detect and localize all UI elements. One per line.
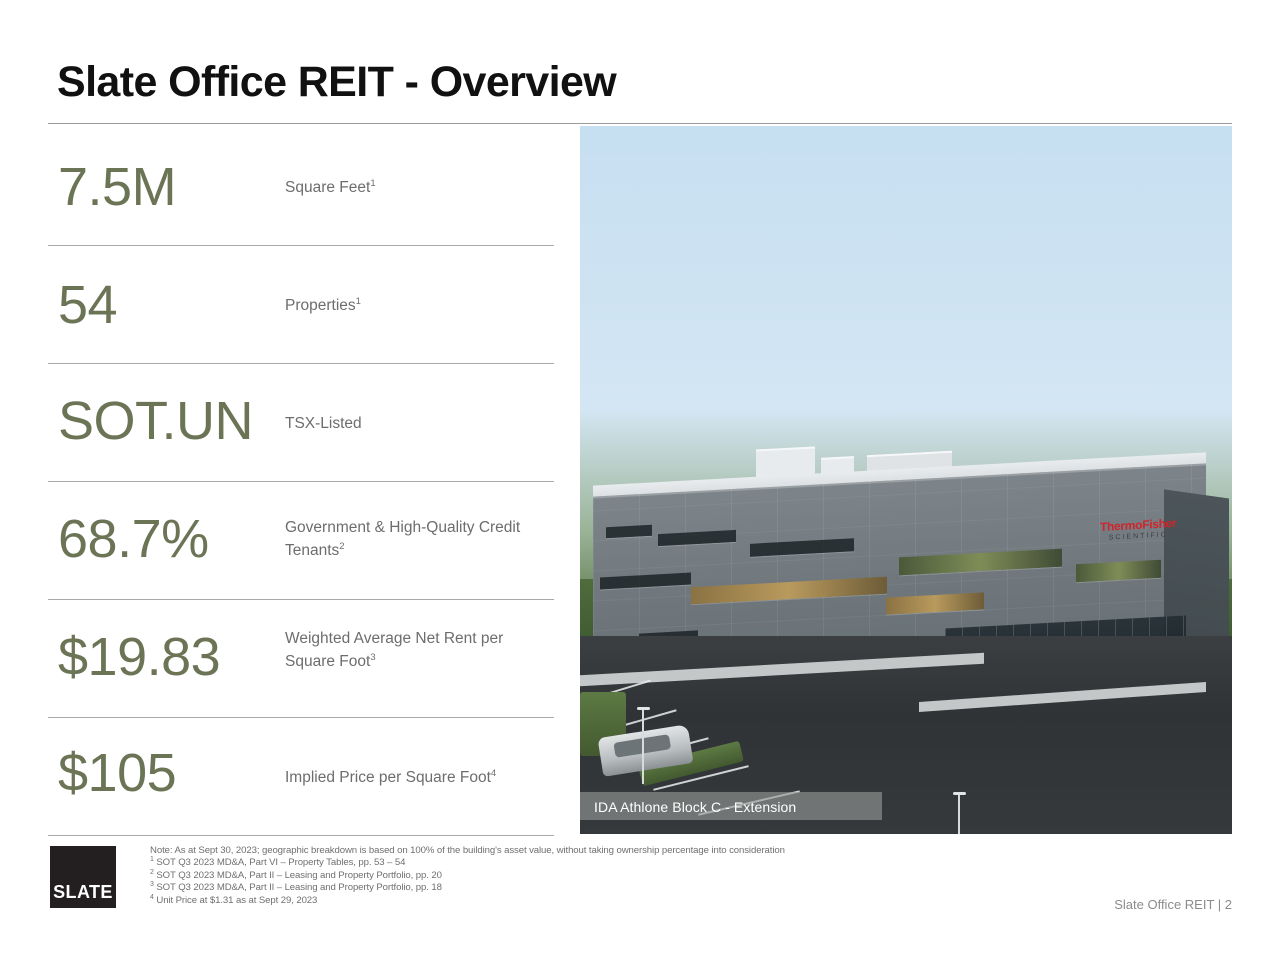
footnote-1: 1 SOT Q3 2023 MD&A, Part VI – Property T… [150,857,910,869]
stat-label: TSX-Listed [285,412,547,435]
stat-label-text: TSX-Listed [285,415,362,432]
stat-row: 7.5M Square Feet1 [48,128,554,246]
footnote-text: SOT Q3 2023 MD&A, Part II – Leasing and … [156,882,441,893]
footnote-4: 4 Unit Price at $1.31 as at Sept 29, 202… [150,895,910,907]
stat-label-text: Implied Price per Square Foot [285,769,491,786]
stat-label-text: Weighted Average Net Rent per Square Foo… [285,630,503,670]
page-title: Slate Office REIT - Overview [57,58,616,107]
footnote-mark: 4 [150,893,154,900]
footnote-text: SOT Q3 2023 MD&A, Part II – Leasing and … [156,870,441,881]
stat-label-footnote-mark: 3 [370,652,375,663]
stat-row: $105 Implied Price per Square Foot4 [48,718,554,836]
header-divider [48,123,1232,124]
stat-value: SOT.UN [58,394,253,448]
footnote-mark: 1 [150,856,154,863]
footnote-note: Note: As at Sept 30, 2023; geographic br… [150,845,910,857]
footnote-3: 3 SOT Q3 2023 MD&A, Part II – Leasing an… [150,882,910,894]
stat-label: Square Feet1 [285,176,547,199]
photo-caption: IDA Athlone Block C - Extension [594,799,796,815]
stat-label-footnote-mark: 4 [491,768,496,779]
stat-row: $19.83 Weighted Average Net Rent per Squ… [48,600,554,718]
stat-label: Implied Price per Square Foot4 [285,766,547,789]
page-footer-label: Slate Office REIT | 2 [1114,897,1232,912]
lamp-post [958,792,960,834]
stat-value: 54 [58,278,117,332]
stats-list: 7.5M Square Feet1 54 Properties1 SOT.UN … [48,128,554,834]
stat-label: Properties1 [285,294,547,317]
stat-value: 7.5M [58,160,176,214]
stat-label-footnote-mark: 1 [370,178,375,189]
footnote-mark: 3 [150,881,154,888]
stat-value: $19.83 [58,630,220,684]
stat-label-text: Properties [285,297,356,314]
footnote-text: SOT Q3 2023 MD&A, Part VI – Property Tab… [156,857,405,868]
stat-value: $105 [58,746,176,800]
stat-label-footnote-mark: 2 [339,541,344,552]
stat-label-text: Square Feet [285,179,370,196]
footnotes: Note: As at Sept 30, 2023; geographic br… [150,845,910,907]
slate-logo-text: SLATE [50,882,116,903]
stat-label: Government & High-Quality Credit Tenants… [285,516,547,562]
stat-row: SOT.UN TSX-Listed [48,364,554,482]
thermofisher-logo: ThermoFisher SCIENTIFIC [1100,517,1176,542]
slate-logo: SLATE [50,846,116,908]
property-photo: ThermoFisher SCIENTIFIC IDA Athlone Bloc… [580,126,1232,834]
footnote-text: Note: As at Sept 30, 2023; geographic br… [150,845,785,856]
stat-value: 68.7% [58,512,209,566]
stat-label: Weighted Average Net Rent per Square Foo… [285,627,547,673]
stat-row: 54 Properties1 [48,246,554,364]
stat-label-text: Government & High-Quality Credit Tenants [285,519,520,559]
stat-label-footnote-mark: 1 [356,296,361,307]
stat-row: 68.7% Government & High-Quality Credit T… [48,482,554,600]
footnote-mark: 2 [150,869,154,876]
lamp-post [642,707,644,785]
footnote-2: 2 SOT Q3 2023 MD&A, Part II – Leasing an… [150,870,910,882]
footnote-text: Unit Price at $1.31 as at Sept 29, 2023 [156,895,317,906]
